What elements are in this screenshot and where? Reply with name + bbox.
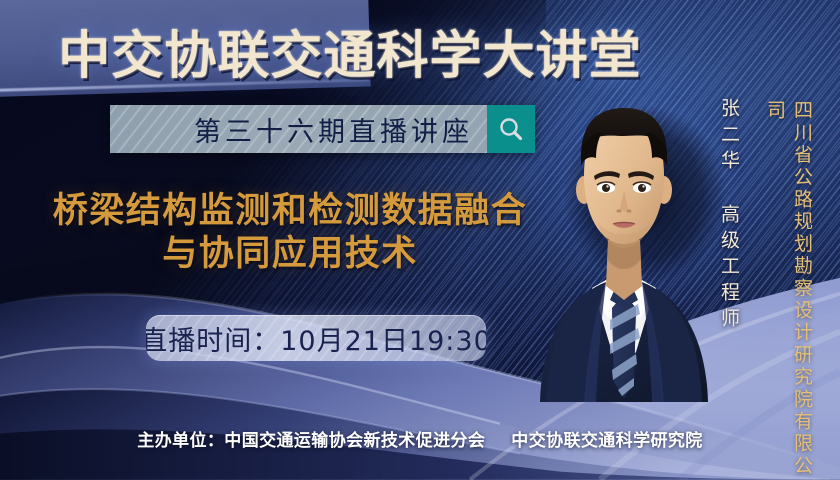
organizer-name-2: 中交协联交通科学研究院 — [511, 431, 702, 451]
page-title: 中交协联交通科学大讲堂 — [0, 14, 707, 88]
organizer-name-1: 中国交通运输协会新技术促进分会 — [224, 431, 485, 451]
organizer-footer: 主办单位：中国交通运输协会新技术促进分会中交协联交通科学研究院 — [0, 426, 840, 451]
speaker-role: 高级工程师 — [716, 204, 743, 334]
headline-line-2: 与协同应用技术 — [20, 233, 560, 276]
organizer-prefix: 主办单位： — [137, 431, 224, 451]
search-icon-box[interactable] — [487, 105, 535, 153]
headline-line-1: 桥梁结构监测和检测数据融合 — [20, 190, 560, 233]
episode-label: 第三十六期直播讲座 — [194, 110, 487, 149]
speaker-organization: 四川省公路规划勘察设计研究院有限公司 — [762, 100, 816, 480]
search-icon — [497, 115, 525, 143]
episode-banner: 第三十六期直播讲座 — [110, 105, 535, 153]
webinar-poster: 中交协联交通科学大讲堂 第三十六期直播讲座 桥梁结构监测和检测数据融合 与协同应… — [0, 0, 840, 480]
broadcast-time-label: 直播时间：10月21日19:30 — [146, 319, 486, 358]
lecture-headline: 桥梁结构监测和检测数据融合 与协同应用技术 — [20, 190, 560, 276]
broadcast-time-badge: 直播时间：10月21日19:30 — [146, 315, 486, 361]
speaker-name: 张二华 — [716, 98, 743, 176]
episode-banner-body: 第三十六期直播讲座 — [110, 105, 487, 153]
